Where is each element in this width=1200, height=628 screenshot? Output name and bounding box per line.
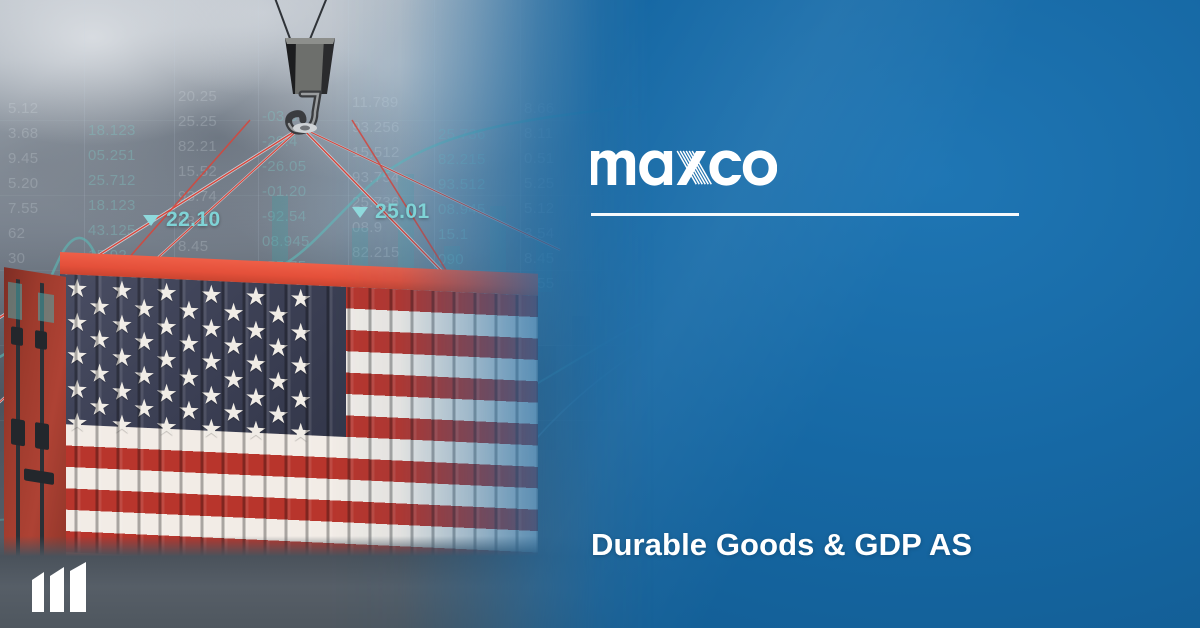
- crane-hook-icon: [255, 20, 365, 140]
- ticker-callout-1: 22.10: [143, 208, 221, 232]
- page-title: Durable Goods & GDP AS: [591, 526, 1151, 564]
- hero-photo: 5.12 3.68 9.45 5.20 7.55 62 30 4318.123 …: [0, 0, 660, 628]
- triangle-down-icon: [143, 215, 159, 226]
- maxco-logo[interactable]: [591, 138, 777, 186]
- social-banner: 5.12 3.68 9.45 5.20 7.55 62 30 4318.123 …: [0, 0, 1200, 628]
- us-flag: ★★★★★★★★★★★★★★★★★★★★★★★★★★★★★★★★★★★★★★★★…: [60, 274, 538, 574]
- maxco-bars-mark[interactable]: [30, 562, 98, 612]
- ground-surface: [0, 536, 660, 628]
- divider-rule: [591, 213, 1019, 216]
- ticker-callout-2-value: 25.01: [375, 200, 430, 224]
- maxco-wordmark-icon: [591, 138, 777, 186]
- triangle-down-icon: [352, 207, 368, 218]
- ticker-callout-2: 25.01: [352, 200, 430, 224]
- container-corrugation: [60, 274, 538, 574]
- ticker-callout-1-value: 22.10: [166, 208, 221, 232]
